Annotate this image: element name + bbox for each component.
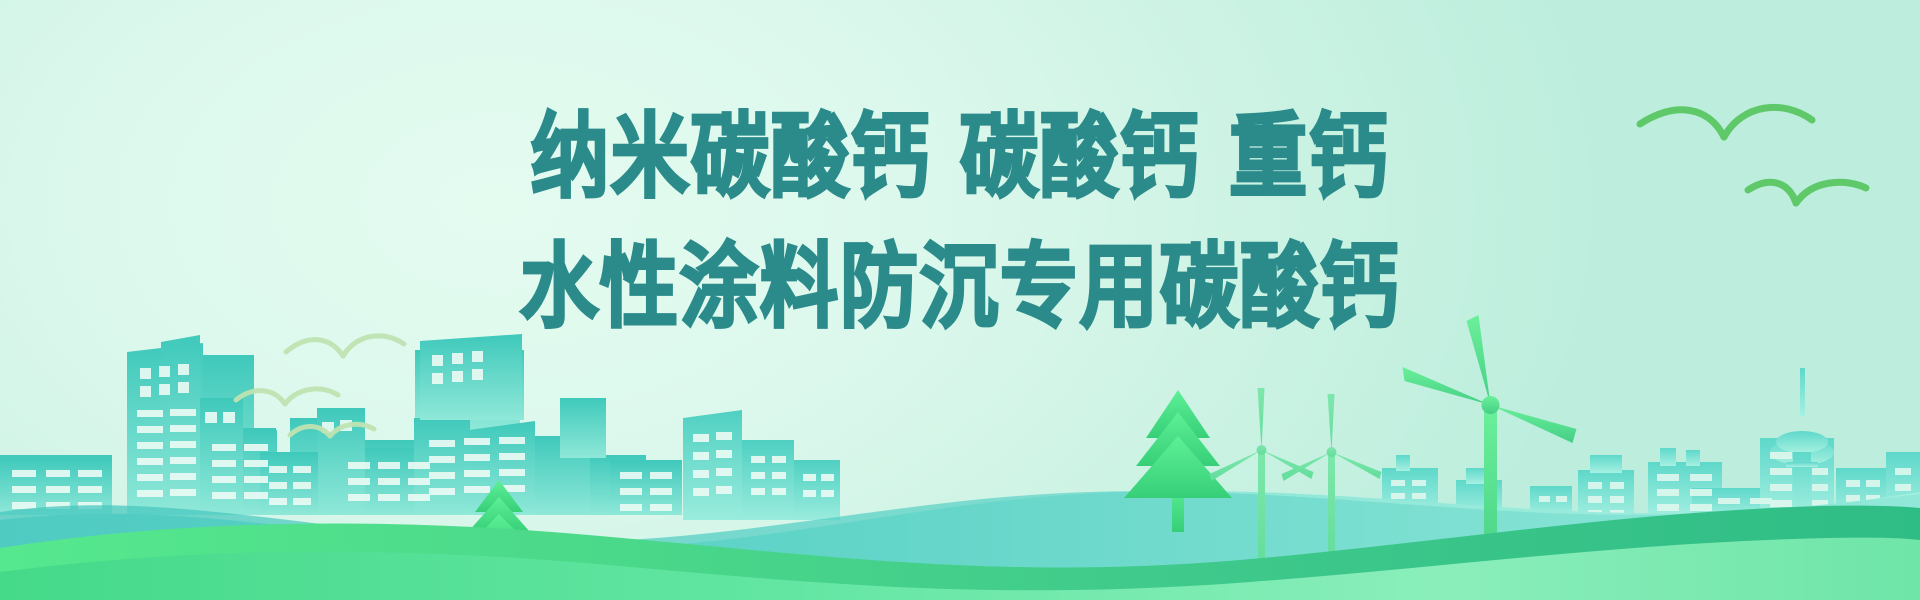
birds-green-right (1640, 107, 1866, 203)
city-skyline-mid (683, 410, 840, 520)
scenery-illustration (0, 0, 1920, 600)
promotional-banner: 纳米碳酸钙 碳酸钙 重钙 水性涂料防沉专用碳酸钙 (0, 0, 1920, 600)
